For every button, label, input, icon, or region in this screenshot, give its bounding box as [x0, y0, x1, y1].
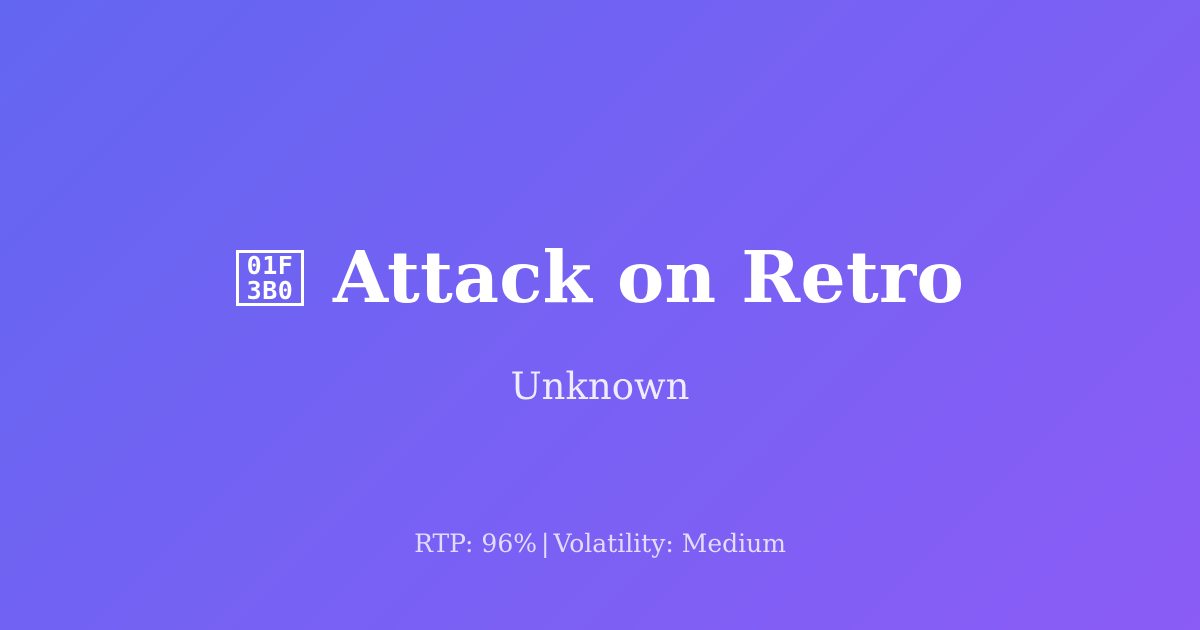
emoji-codepoint-top: 01F	[247, 253, 294, 278]
title-row: 01F 3B0 Attack on Retro	[0, 238, 1200, 316]
slot-machine-emoji: 01F 3B0	[236, 250, 304, 306]
emoji-codepoint-bottom: 3B0	[247, 278, 294, 303]
stat-separator: |	[537, 529, 553, 558]
game-provider-subtitle: Unknown	[0, 362, 1200, 412]
page-title: Attack on Retro	[333, 238, 964, 316]
game-preview-card: 01F 3B0 Attack on Retro Unknown RTP: 96%…	[0, 0, 1200, 630]
volatility-stat: Volatility: Medium	[553, 529, 785, 558]
game-stats-line: RTP: 96%|Volatility: Medium	[0, 528, 1200, 560]
rtp-stat: RTP: 96%	[414, 529, 537, 558]
